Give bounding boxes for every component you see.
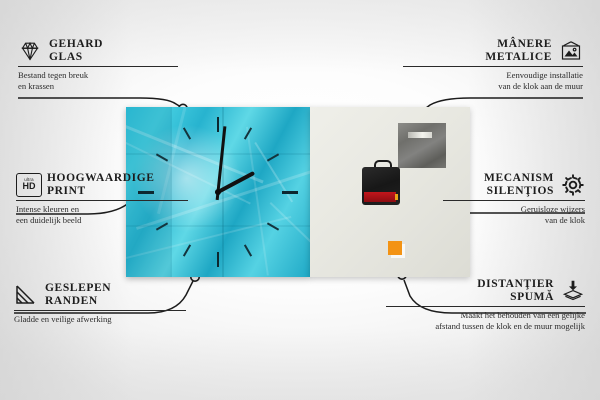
feature-title-line1: HOOGWAARDIGE [47,172,155,185]
clock-tick-12 [217,117,219,132]
feature-title-line1: MECANISM [484,172,554,185]
clock-tick-5 [244,244,252,256]
feature-subtitle-line1: Eenvoudige installatie [403,70,583,81]
feature-title-line2: SPUMĂ [477,291,554,304]
feature-rule [443,200,585,201]
feature-subtitle-line2: van de klok [443,215,585,226]
feature-subtitle-line1: Geruisloze wijzers [443,204,585,215]
clock-mechanism-box [362,167,400,205]
feature-title-line2: RANDEN [45,295,111,308]
feature-subtitle-line1: Intense kleuren en [16,204,206,215]
feature-rule [403,66,583,67]
feature-subtitle-line1: Bestand tegen breuk [18,70,198,81]
diamond-icon [18,39,42,63]
battery [364,192,396,202]
picture-frame-icon [559,39,583,63]
connector-gehard-glas [18,98,181,107]
feature-subtitle-line1: Gladde en veilige afwerking [14,314,204,325]
feature-subtitle-line1: Maakt het behouden van een gelijke [386,310,585,321]
feature-title-line1: GEHARD [49,38,103,51]
foam-spacer [388,241,402,255]
clock-tick-3 [282,191,298,194]
feature-subtitle-line2: een duidelijk beeld [16,215,206,226]
feature-subtitle-line2: afstand tussen de klok en de muur mogeli… [386,321,585,332]
feature-subtitle-line2: van de klok aan de muur [403,81,583,92]
feature-subtitle-line2: en krassen [18,81,198,92]
feature-title-line2: GLAS [49,51,103,64]
bevelled-edges-icon [14,283,38,307]
feature-title-line1: MÂNERE [485,38,552,51]
feature-rule [16,200,188,201]
spacer-press-icon [561,279,585,303]
clock-tick-6 [217,252,219,267]
feature-mecanism-silentios: MECANISM SILENŢIOS Geruisloze wijzers va… [443,172,585,226]
feature-geslepen-randen: GESLEPEN RANDEN Gladde en veilige afwerk… [14,282,204,325]
infographic-canvas: GEHARD GLAS Bestand tegen breuk en krass… [0,0,600,400]
metal-hanger-plate [398,123,446,168]
feature-distantier-spuma: DISTANŢIER SPUMĂ Maakt het behouden van … [386,278,585,332]
feature-title-line1: GESLEPEN [45,282,111,295]
feature-gehard-glas: GEHARD GLAS Bestand tegen breuk en krass… [18,38,198,92]
gear-icon [561,173,585,197]
feature-hoogwaardige-print: ultra HD HOOGWAARDIGE PRINT Intense kleu… [16,172,206,226]
ultra-hd-icon: ultra HD [16,173,40,197]
feature-manere-metalice: MÂNERE METALICE Eenvoudige installatie v… [403,38,583,92]
feature-rule [386,306,585,307]
clock-tick-7 [183,244,191,256]
feature-title-line1: DISTANŢIER [477,278,554,291]
feature-title-line2: METALICE [485,51,552,64]
feature-rule [18,66,178,67]
feature-rule [14,310,186,311]
clock-center-cap [215,189,221,195]
clock-tick-11 [183,127,191,139]
feature-title-line2: SILENŢIOS [484,185,554,198]
feature-title-line2: PRINT [47,185,155,198]
